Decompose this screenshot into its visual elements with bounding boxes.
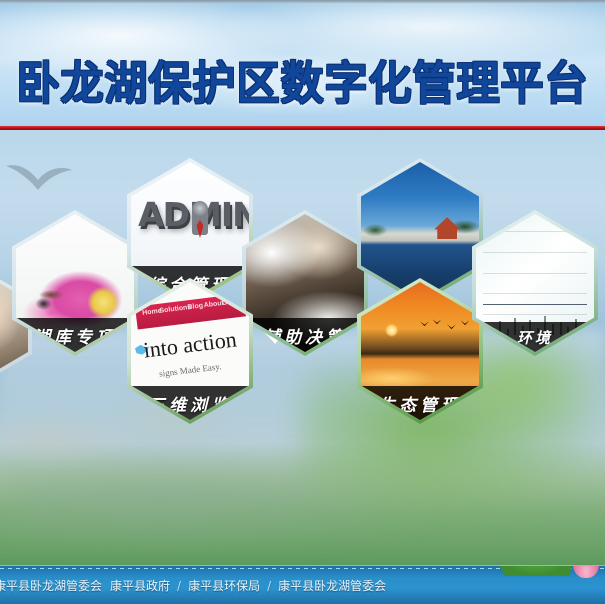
footer-links: 康平县政府 / 康平县环保局 / 康平县卧龙湖管委会 — [110, 577, 386, 594]
hexagon-tile-3d-browse-frame: Home Solutions Blog About Contact into a… — [127, 278, 253, 424]
sunset-birds-icon — [420, 319, 472, 336]
website-nav-bar-graphic: Home Solutions Blog About Contact — [135, 293, 246, 330]
hexagon-tile-environment-frame: 环境 — [472, 210, 598, 356]
chart-trend-line — [483, 304, 587, 306]
hexagon-tile-decision-support[interactable]: 辅助决策 — [246, 214, 364, 352]
hexagon-label-ecological-management: 生态管理 — [361, 386, 479, 420]
hexagon-tile-decision-frame: 辅助决策 — [242, 210, 368, 356]
hexagon-tile-lake-reservoir[interactable]: 湖库专项 — [16, 214, 134, 352]
hexagon-label-decision-support: 辅助决策 — [246, 318, 364, 352]
footer-separator-2: / — [267, 579, 271, 593]
hexagon-label-environment-monitoring: 环境 — [476, 322, 594, 352]
page-title: 卧龙湖保护区数字化管理平台 — [17, 47, 589, 113]
admin-wordmark: ADMIN — [138, 195, 242, 234]
hexagon-menu-grid: 湖库专项 ADMIN 综合管理 辅助决策 — [0, 130, 605, 565]
lotus-flower-icon — [573, 565, 599, 578]
hexagon-tile-three-d-browse[interactable]: Home Solutions Blog About Contact into a… — [131, 282, 249, 420]
footer-link-committee[interactable]: 康平县卧龙湖管委会 — [278, 577, 386, 594]
footer-bar: 康平县卧龙湖管委会 康平县政府 / 康平县环保局 / 康平县卧龙湖管委会 — [0, 565, 605, 604]
lake-trees — [361, 220, 479, 237]
footer-link-government[interactable]: 康平县政府 — [110, 577, 170, 594]
hexagon-tile-environment-monitoring[interactable]: 环境 — [476, 214, 594, 352]
hexagon-label-three-d-browse: 三维浏览 — [131, 386, 249, 420]
nav-item-blog: Blog — [187, 302, 203, 311]
footer-link-epb[interactable]: 康平县环保局 — [188, 577, 260, 594]
hexagon-tile-ecological-frame: 生态管理 — [357, 278, 483, 424]
lotus-leaf-icon — [497, 565, 575, 576]
hexagon-label-lake-reservoir: 湖库专项 — [16, 318, 134, 352]
page-root: 卧龙湖保护区数字化管理平台 Shenyang north sea! SHE 阳北… — [0, 0, 605, 604]
window-top-edge — [0, 0, 605, 3]
hexagon-tile-ecological-management[interactable]: 生态管理 — [361, 282, 479, 420]
footer-owner-label: 康平县卧龙湖管委会 — [0, 577, 102, 594]
hummingbird-moth-icon — [35, 269, 89, 316]
footer-separator-1: / — [177, 579, 181, 593]
into-action-wordmark: into action — [136, 325, 245, 364]
page-title-container: 卧龙湖保护区数字化管理平台 — [0, 52, 605, 108]
